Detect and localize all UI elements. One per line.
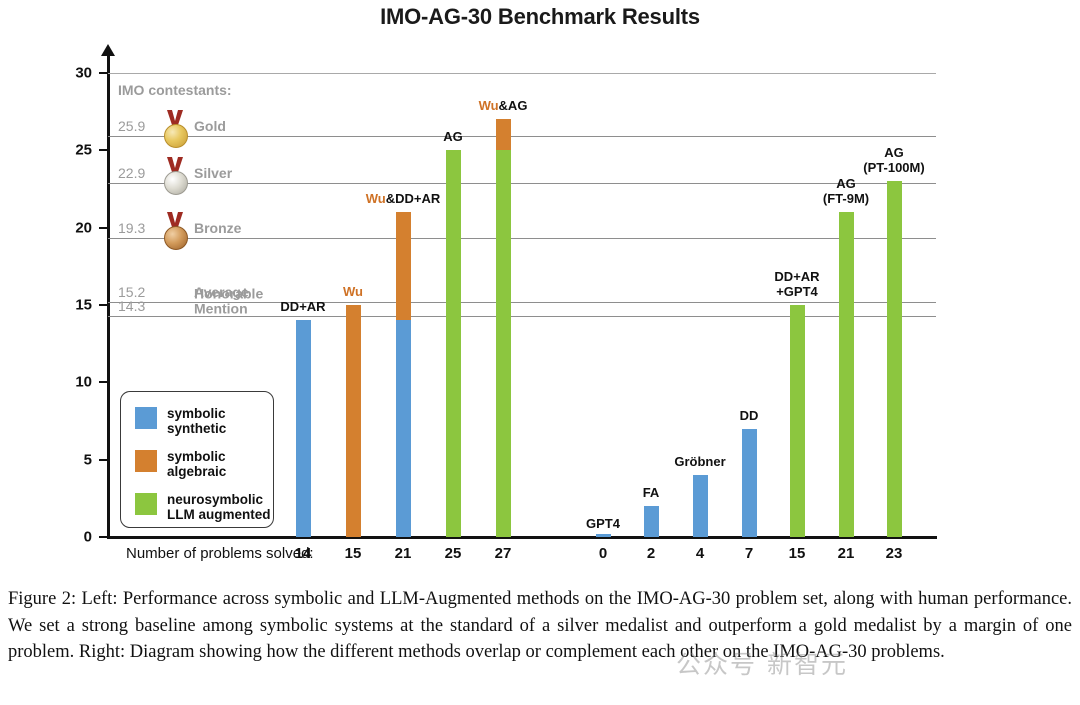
bar-label-wu: Wu [343,284,363,299]
y-tick-mark-5 [99,459,108,461]
reference-value-1: 22.9 [118,165,145,181]
bar-label-ag: AG [443,129,463,144]
bar-dd-ar-seg0[interactable] [296,320,311,537]
bar-wu-ag-seg1[interactable] [496,119,511,150]
reference-value-0: 25.9 [118,118,145,134]
bar-wu-dd-ar-seg1[interactable] [396,212,411,320]
x-value-8: 7 [745,545,753,562]
y-axis-line [107,52,110,539]
x-value-6: 2 [647,545,655,562]
x-value-3: 25 [445,545,462,562]
y-tick-mark-30 [99,72,108,74]
y-tick-10: 10 [58,374,92,391]
bar-label-dd-ar-gpt4: DD+AR+GPT4 [774,269,819,299]
reference-value-4: 14.3 [118,298,145,314]
x-value-11: 23 [886,545,903,562]
y-tick-mark-0 [99,536,108,538]
y-tick-mark-20 [99,227,108,229]
bar-wu-ag-seg0[interactable] [496,150,511,537]
x-value-2: 21 [395,545,412,562]
bar-fa-seg0[interactable] [644,506,659,537]
bar-chart: 051015202530 25.9Gold22.9Silver19.3Bronz… [0,0,1080,575]
y-tick-25: 25 [58,142,92,159]
reference-value-2: 19.3 [118,220,145,236]
bar-label-ag-pt-100m-: AG(PT-100M) [863,145,924,175]
bar-label-wu-dd-ar: Wu&DD+AR [366,191,441,206]
y-tick-20: 20 [58,219,92,236]
legend-swatch-0 [135,407,157,429]
x-value-4: 27 [495,545,512,562]
legend-item-2[interactable]: neurosymbolic LLM augmented [135,492,271,522]
legend-label-0: symbolic synthetic [167,406,226,436]
legend-item-0[interactable]: symbolic synthetic [135,406,226,436]
x-value-5: 0 [599,545,607,562]
bar-ag-ft-9m--seg0[interactable] [839,212,854,537]
figure-caption: Figure 2: Left: Performance across symbo… [8,586,1072,666]
imo-contestants-heading: IMO contestants: [118,82,232,98]
bar-label-dd-ar: DD+AR [280,299,325,314]
legend-swatch-1 [135,450,157,472]
silver-medal-icon [162,157,188,197]
reference-label-1: Silver [194,166,232,181]
legend-label-2: neurosymbolic LLM augmented [167,492,271,522]
bar-dd-ar-gpt4-seg0[interactable] [790,305,805,537]
y-tick-30: 30 [58,65,92,82]
x-axis-caption: Number of problems solved: [126,545,314,562]
reference-line-gold [108,136,936,137]
bar-label-ag-ft-9m-: AG(FT-9M) [823,176,869,206]
bar-label-wu-ag: Wu&AG [479,98,528,113]
reference-label-0: Gold [194,119,226,134]
medal-disc-icon [164,124,188,148]
y-tick-15: 15 [58,297,92,314]
y-tick-0: 0 [58,529,92,546]
x-value-1: 15 [345,545,362,562]
bar-label-dd: DD [740,408,759,423]
reference-line-silver [108,183,936,184]
bar-dd-seg0[interactable] [742,429,757,537]
bar-wu-seg0[interactable] [346,305,361,537]
legend-swatch-2 [135,493,157,515]
bar-ag-pt-100m--seg0[interactable] [887,181,902,537]
x-axis-line [107,536,937,539]
gold-medal-icon [162,110,188,150]
reference-label-2: Bronze [194,221,241,236]
bar-wu-dd-ar-seg0[interactable] [396,320,411,537]
bar-ag-seg0[interactable] [446,150,461,537]
bar-label-fa: FA [643,485,660,500]
medal-disc-icon [164,171,188,195]
x-value-7: 4 [696,545,704,562]
bar-gpt4-seg0[interactable] [596,534,611,537]
y-axis-arrow-icon [101,44,115,56]
chart-legend: symbolic syntheticsymbolic algebraicneur… [120,391,274,528]
y-tick-5: 5 [58,451,92,468]
legend-item-1[interactable]: symbolic algebraic [135,449,226,479]
y-tick-mark-10 [99,381,108,383]
bar-label-gpt4: GPT4 [586,516,620,531]
bar-label-gr-bner: Gröbner [674,454,725,469]
medal-disc-icon [164,226,188,250]
x-value-10: 21 [838,545,855,562]
y-tick-mark-25 [99,149,108,151]
bar-gr-bner-seg0[interactable] [693,475,708,537]
y-tick-mark-15 [99,304,108,306]
legend-label-1: symbolic algebraic [167,449,226,479]
bronze-medal-icon [162,212,188,252]
reference-line-bronze [108,238,936,239]
gridline-30 [108,73,936,74]
x-value-9: 15 [789,545,806,562]
reference-label-4: Honorable Mention [194,286,263,316]
